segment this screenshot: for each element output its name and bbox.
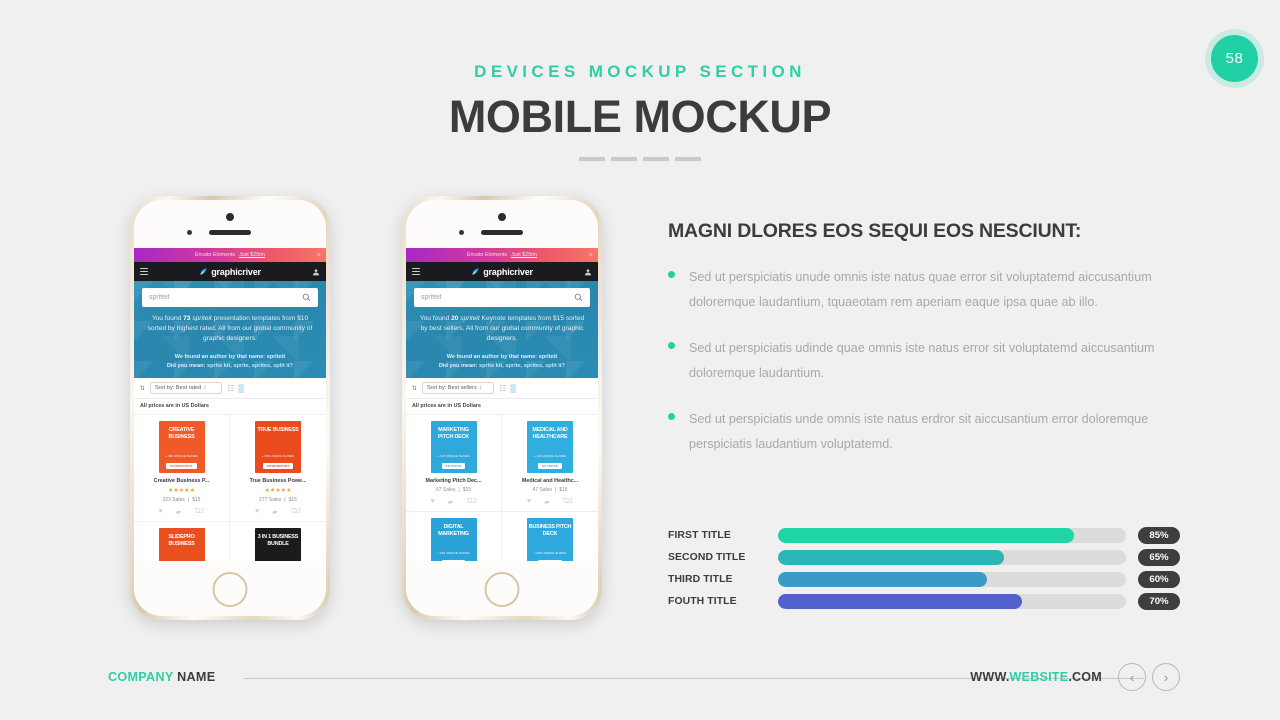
company-name: COMPANY NAME	[108, 670, 215, 684]
product-sales: 67 Sales	[436, 487, 455, 493]
sort-select-value: Sort by: Best sellers	[427, 385, 477, 391]
front-camera-icon	[498, 213, 506, 221]
product-card[interactable]: SLIDEPRO BUSINESS+ 270 UNIQUE SLIDESPOWE…	[134, 521, 230, 561]
thumbnail-subtitle: + 150 UNIQUE SLIDES	[437, 551, 469, 555]
content-column: MAGNI DLORES EOS SEQUI EOS NESCIUNT: Sed…	[668, 220, 1168, 478]
bullet-dot-icon	[668, 413, 675, 420]
cart-icon[interactable]: Ὥ2	[194, 508, 205, 516]
rating-stars-icon: ★★★★★	[138, 487, 225, 494]
thumbnail-title: DIGITAL MARKETING	[431, 524, 477, 537]
product-card[interactable]: TRUE BUSINESS+ 400 UNIQUE SLIDESPOWERPOI…	[230, 414, 326, 521]
phone-mockup-left: Envato ElementsJust $29/m×graphicriversp…	[130, 196, 330, 620]
product-meta: 323 Sales|$15	[138, 497, 225, 503]
bullet-text: Sed ut perspiciatis unude omnis iste nat…	[689, 265, 1168, 314]
cart-icon[interactable]: Ὥ2	[466, 498, 477, 506]
search-suggestions: We found an author by that name: spritei…	[142, 353, 318, 373]
phone-bottom-bezel	[134, 561, 326, 616]
product-thumbnail: DIGITAL MARKETING+ 150 UNIQUE SLIDESKEYN…	[431, 518, 477, 561]
list-view-icon[interactable]: ☷	[227, 384, 233, 393]
skill-bar-percent: 60%	[1138, 571, 1180, 588]
product-sales: 47 Sales	[532, 487, 551, 493]
product-sales: 323 Sales	[163, 497, 185, 503]
bullet-text: Sed ut perspiciatis unde omnis iste natu…	[689, 407, 1168, 456]
did-you-mean-line: Did you mean: sprite kit, sprite, sprite…	[142, 362, 318, 372]
promo-banner[interactable]: Envato ElementsJust $29/m×	[406, 248, 598, 262]
hamburger-icon[interactable]	[412, 268, 420, 275]
thumbnail-title: 3 IN 1 BUSINESS BUNDLE	[255, 534, 301, 547]
title-dash	[579, 157, 605, 161]
proximity-sensor-icon	[187, 230, 192, 235]
author-found-text: We found an author by that name: spritei…	[142, 353, 318, 363]
product-card[interactable]: MARKETING PITCH DECK+ 170 UNIQUE SLIDESK…	[406, 414, 502, 511]
skill-bar-track	[778, 550, 1126, 565]
page-title: MOBILE MOCKUP	[0, 91, 1280, 143]
website-url: WWW.WEBSITE.COM	[970, 670, 1102, 684]
earpiece-speaker	[481, 230, 523, 235]
skill-bar-row: SECOND TITLE65%	[668, 546, 1180, 568]
did-you-mean-links[interactable]: sprite kit, sprite, sprites, split it?	[207, 363, 293, 369]
skill-bar-percent: 65%	[1138, 549, 1180, 566]
chevron-right-icon: ›	[1164, 670, 1168, 685]
company-name-rest: NAME	[173, 670, 215, 684]
product-actions: ♥▰Ὥ2	[138, 508, 225, 516]
product-meta: 277 Sales|$15	[234, 497, 322, 503]
promo-banner[interactable]: Envato ElementsJust $29/m×	[134, 248, 326, 262]
skill-bar-track	[778, 594, 1126, 609]
skill-bar-label: FIRST TITLE	[668, 530, 778, 541]
folder-icon[interactable]: ▰	[544, 498, 549, 506]
search-result-summary: You found 20 spriteit Keynote templates …	[414, 314, 590, 345]
home-button[interactable]	[485, 572, 520, 607]
author-found-text: We found an author by that name: spritei…	[414, 353, 590, 363]
stepper-icon[interactable]: ↕	[203, 385, 206, 391]
list-view-icon[interactable]: ☷	[499, 384, 505, 393]
content-heading: MAGNI DLORES EOS SEQUI EOS NESCIUNT:	[668, 220, 1168, 243]
product-card[interactable]: MEDICAL AND HEALTHCARE+ 110 UNIQUE SLIDE…	[502, 414, 598, 511]
skill-bar-fill	[778, 594, 1022, 609]
product-name[interactable]: Medical and Healthc...	[506, 478, 594, 484]
promo-deal-link[interactable]: Just $29/m	[239, 252, 265, 258]
search-input[interactable]: spriteit	[414, 288, 590, 307]
sort-icon[interactable]: ⇅	[412, 385, 417, 392]
company-name-accent: COMPANY	[108, 670, 173, 684]
quill-icon	[471, 267, 480, 276]
brand-name: graphicriver	[211, 267, 261, 277]
product-thumbnail: MARKETING PITCH DECK+ 170 UNIQUE SLIDESK…	[431, 421, 477, 473]
skill-bar-fill	[778, 550, 1004, 565]
product-thumbnail: 3 IN 1 BUSINESS BUNDLE+ 600 UNIQUE SLIDE…	[255, 528, 301, 561]
close-icon[interactable]: ×	[589, 252, 593, 259]
bullet-item: Sed ut perspiciatis unude omnis iste nat…	[668, 265, 1168, 314]
phone-top-bezel	[406, 200, 598, 248]
bullet-list: Sed ut perspiciatis unude omnis iste nat…	[668, 265, 1168, 456]
brand-name: graphicriver	[483, 267, 533, 277]
product-thumbnail: BUSINESS PITCH DECK+ 200 UNIQUE SLIDESKE…	[527, 518, 573, 561]
price-currency-note: All prices are in US Dollars	[406, 399, 598, 414]
bullet-item: Sed ut perspiciatis udinde quae omnis is…	[668, 336, 1168, 385]
product-card[interactable]: 3 IN 1 BUSINESS BUNDLE+ 600 UNIQUE SLIDE…	[230, 521, 326, 561]
skill-bar-chart: FIRST TITLE85%SECOND TITLE65%THIRD TITLE…	[668, 524, 1180, 612]
skill-bar-fill	[778, 572, 987, 587]
thumbnail-format-tag: POWERPOINT	[263, 463, 294, 469]
folder-icon[interactable]: ▰	[272, 508, 277, 516]
home-button[interactable]	[213, 572, 248, 607]
thumbnail-subtitle: + 400 UNIQUE SLIDES	[165, 454, 197, 458]
bullet-item: Sed ut perspiciatis unde omnis iste natu…	[668, 407, 1168, 456]
result-keyword: spriteit	[458, 315, 479, 322]
slide-footer: COMPANY NAME WWW.WEBSITE.COM ‹ ›	[0, 642, 1280, 720]
product-price: $15	[289, 497, 297, 503]
skill-bar-row: FOUTH TITLE70%	[668, 590, 1180, 612]
cart-icon[interactable]: Ὥ2	[291, 508, 302, 516]
sort-icon[interactable]: ⇅	[140, 385, 145, 392]
heart-icon[interactable]: ♥	[255, 508, 259, 516]
product-thumbnail: CREATIVE BUSINESS+ 400 UNIQUE SLIDESPOWE…	[159, 421, 205, 473]
cart-icon[interactable]: Ὥ2	[563, 498, 574, 506]
phone-mockup-right: Envato ElementsJust $29/m×graphicriversp…	[402, 196, 602, 620]
product-sales: 277 Sales	[259, 497, 281, 503]
thumbnail-title: MEDICAL AND HEALTHCARE	[527, 427, 573, 440]
slide-canvas: 58 DEVICES MOCKUP SECTION MOBILE MOCKUP …	[0, 0, 1280, 720]
sort-select-value: Sort by: Best rated	[155, 385, 201, 391]
product-price: $15	[463, 487, 471, 493]
promo-deal-link[interactable]: Just $29/m	[511, 252, 537, 258]
close-icon[interactable]: ×	[317, 252, 321, 259]
search-value: spriteit	[421, 294, 442, 301]
product-thumbnail: SLIDEPRO BUSINESS+ 270 UNIQUE SLIDESPOWE…	[159, 528, 205, 561]
skill-bar-track	[778, 572, 1126, 587]
search-value: spriteit	[149, 294, 170, 301]
product-name[interactable]: Creative Business P...	[138, 478, 225, 484]
sort-select[interactable]: Sort by: Best rated↕	[150, 382, 222, 394]
folder-icon[interactable]: ▰	[176, 508, 181, 516]
product-thumbnail: TRUE BUSINESS+ 400 UNIQUE SLIDESPOWERPOI…	[255, 421, 301, 473]
thumbnail-subtitle: + 400 UNIQUE SLIDES	[262, 454, 294, 458]
price-currency-note: All prices are in US Dollars	[134, 399, 326, 414]
user-icon[interactable]	[584, 268, 592, 276]
search-icon[interactable]	[574, 293, 583, 302]
product-price: $15	[559, 487, 567, 493]
title-underline-dashes	[0, 157, 1280, 161]
phone-screen-left: Envato ElementsJust $29/m×graphicriversp…	[134, 248, 326, 561]
product-actions: ♥▰Ὥ2	[234, 508, 322, 516]
hamburger-icon[interactable]	[140, 268, 148, 275]
earpiece-speaker	[209, 230, 251, 235]
brand-logo[interactable]: graphicriver	[199, 267, 261, 277]
product-thumbnail: MEDICAL AND HEALTHCARE+ 110 UNIQUE SLIDE…	[527, 421, 573, 473]
search-input[interactable]: spriteit	[142, 288, 318, 307]
chevron-left-icon: ‹	[1130, 670, 1134, 685]
sort-toolbar: ⇅Sort by: Best sellers↕☷▒	[406, 378, 598, 399]
section-eyebrow: DEVICES MOCKUP SECTION	[0, 62, 1280, 82]
brand-logo[interactable]: graphicriver	[471, 267, 533, 277]
result-keyword: spriteit	[190, 315, 211, 322]
bullet-text: Sed ut perspiciatis udinde quae omnis is…	[689, 336, 1168, 385]
skill-bar-row: THIRD TITLE60%	[668, 568, 1180, 590]
product-grid: CREATIVE BUSINESS+ 400 UNIQUE SLIDESPOWE…	[134, 414, 326, 561]
thumbnail-subtitle: + 110 UNIQUE SLIDES	[534, 454, 566, 458]
did-you-mean-links[interactable]: sprite kit, sprite, sprites, split it?	[479, 363, 565, 369]
heart-icon[interactable]: ♥	[527, 498, 531, 506]
product-card[interactable]: BUSINESS PITCH DECK+ 200 UNIQUE SLIDESKE…	[502, 511, 598, 561]
skill-bar-track	[778, 528, 1126, 543]
product-actions: ♥▰Ὥ2	[410, 498, 497, 506]
bullet-dot-icon	[668, 271, 675, 278]
skill-bar-label: FOUTH TITLE	[668, 596, 778, 607]
folder-icon[interactable]: ▰	[448, 498, 453, 506]
website-prefix: WWW.	[970, 670, 1009, 684]
product-name[interactable]: Marketing Pitch Dec...	[410, 478, 497, 484]
product-meta: 47 Sales|$15	[506, 487, 594, 493]
rating-stars-icon: ★★★★★	[234, 487, 322, 494]
product-actions: ♥▰Ὥ2	[506, 498, 594, 506]
search-hero-panel: spriteitYou found 20 spriteit Keynote te…	[406, 281, 598, 378]
thumbnail-format-tag: KEYNOTE	[538, 463, 562, 469]
website-suffix: .COM	[1068, 670, 1102, 684]
search-result-summary: You found 73 spriteit presentation templ…	[142, 314, 318, 345]
result-pre: You found	[152, 315, 183, 322]
grid-view-icon[interactable]: ▒	[238, 384, 243, 393]
result-pre: You found	[420, 315, 451, 322]
thumbnail-title: SLIDEPRO BUSINESS	[159, 534, 205, 547]
product-name[interactable]: True Business Powe...	[234, 478, 322, 484]
quill-icon	[199, 267, 208, 276]
did-you-mean-label: Did you mean:	[167, 363, 207, 369]
sort-toolbar: ⇅Sort by: Best rated↕☷▒	[134, 378, 326, 399]
skill-bar-label: SECOND TITLE	[668, 552, 778, 563]
thumbnail-title: BUSINESS PITCH DECK	[527, 524, 573, 537]
skill-bar-row: FIRST TITLE85%	[668, 524, 1180, 546]
user-icon[interactable]	[312, 268, 320, 276]
grid-view-icon[interactable]: ▒	[510, 384, 515, 393]
sort-select[interactable]: Sort by: Best sellers↕	[422, 382, 494, 394]
product-price: $15	[192, 497, 200, 503]
product-card[interactable]: CREATIVE BUSINESS+ 400 UNIQUE SLIDESPOWE…	[134, 414, 230, 521]
next-slide-button[interactable]: ›	[1152, 663, 1180, 691]
product-meta: 67 Sales|$15	[410, 487, 497, 493]
title-dash	[675, 157, 701, 161]
thumbnail-format-tag: KEYNOTE	[442, 463, 466, 469]
slide-header: DEVICES MOCKUP SECTION MOBILE MOCKUP	[0, 62, 1280, 161]
skill-bar-percent: 70%	[1138, 593, 1180, 610]
product-card[interactable]: DIGITAL MARKETING+ 150 UNIQUE SLIDESKEYN…	[406, 511, 502, 561]
title-dash	[611, 157, 637, 161]
search-suggestions: We found an author by that name: spritei…	[414, 353, 590, 373]
did-you-mean-label: Did you mean:	[439, 363, 479, 369]
thumbnail-format-tag: POWERPOINT	[166, 463, 197, 469]
promo-brand: Envato Elements	[195, 252, 235, 258]
stepper-icon[interactable]: ↕	[479, 385, 482, 391]
product-grid: MARKETING PITCH DECK+ 170 UNIQUE SLIDESK…	[406, 414, 598, 561]
heart-icon[interactable]: ♥	[430, 498, 434, 506]
skill-bar-label: THIRD TITLE	[668, 574, 778, 585]
website-accent: WEBSITE	[1010, 670, 1069, 684]
thumbnail-subtitle: + 170 UNIQUE SLIDES	[437, 454, 469, 458]
thumbnail-title: MARKETING PITCH DECK	[431, 427, 477, 440]
search-icon[interactable]	[302, 293, 311, 302]
bullet-dot-icon	[668, 342, 675, 349]
prev-slide-button[interactable]: ‹	[1118, 663, 1146, 691]
thumbnail-title: TRUE BUSINESS	[257, 427, 298, 433]
phone-screen-right: Envato ElementsJust $29/m×graphicriversp…	[406, 248, 598, 561]
title-dash	[643, 157, 669, 161]
app-top-bar: graphicriver	[406, 262, 598, 281]
phone-bottom-bezel	[406, 561, 598, 616]
search-hero-panel: spriteitYou found 73 spriteit presentati…	[134, 281, 326, 378]
heart-icon[interactable]: ♥	[158, 508, 162, 516]
phone-top-bezel	[134, 200, 326, 248]
thumbnail-title: CREATIVE BUSINESS	[159, 427, 205, 440]
did-you-mean-line: Did you mean: sprite kit, sprite, sprite…	[414, 362, 590, 372]
app-top-bar: graphicriver	[134, 262, 326, 281]
skill-bar-fill	[778, 528, 1074, 543]
promo-brand: Envato Elements	[467, 252, 507, 258]
proximity-sensor-icon	[459, 230, 464, 235]
front-camera-icon	[226, 213, 234, 221]
skill-bar-percent: 85%	[1138, 527, 1180, 544]
thumbnail-subtitle: + 200 UNIQUE SLIDES	[534, 551, 566, 555]
